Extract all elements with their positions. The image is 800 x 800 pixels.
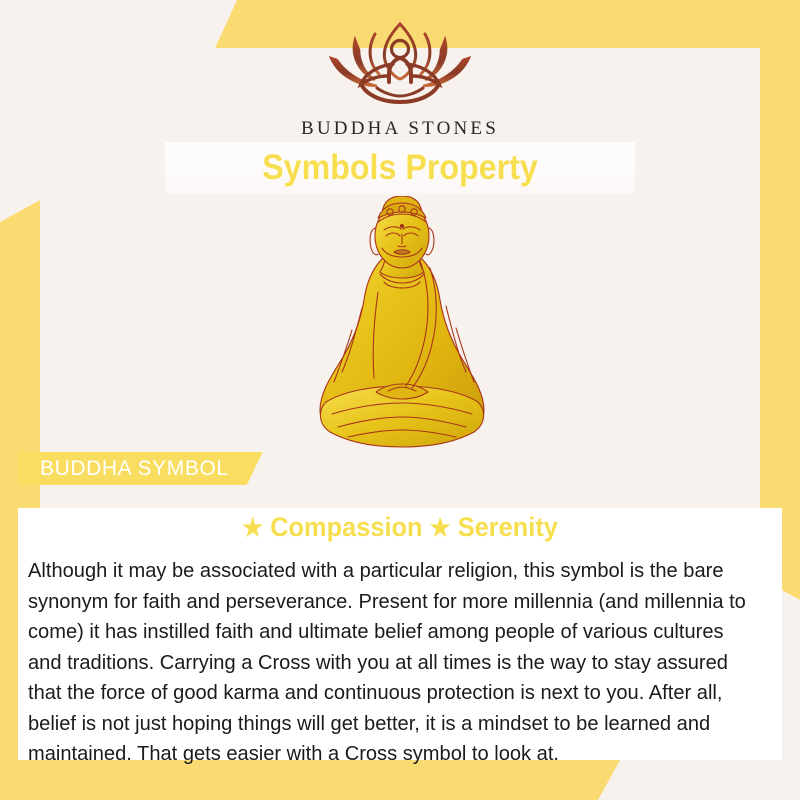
star-icon-left: ★ bbox=[242, 514, 263, 542]
poster-canvas: BUDDHA STONES Symbols Property bbox=[0, 0, 800, 800]
star-icon-right: ★ bbox=[430, 514, 451, 542]
attribute-serenity: Serenity bbox=[458, 512, 558, 542]
buddha-statue-image bbox=[290, 196, 515, 496]
seated-golden-buddha-statue-icon bbox=[290, 196, 515, 496]
symbol-tag-label: BUDDHA SYMBOL bbox=[40, 457, 229, 481]
description-paragraph: Although it may be associated with a par… bbox=[28, 556, 759, 770]
attribute-compassion: Compassion bbox=[270, 512, 422, 542]
brand-wordmark: BUDDHA STONES bbox=[0, 118, 800, 140]
symbol-category-tag: BUDDHA SYMBOL bbox=[18, 452, 263, 485]
brand-logo-block: BUDDHA STONES bbox=[0, 18, 800, 140]
attributes-subtitle: ★ Compassion ★ Serenity bbox=[41, 512, 759, 543]
lotus-meditation-figure-icon bbox=[315, 18, 485, 114]
page-title: Symbols Property bbox=[184, 142, 616, 194]
